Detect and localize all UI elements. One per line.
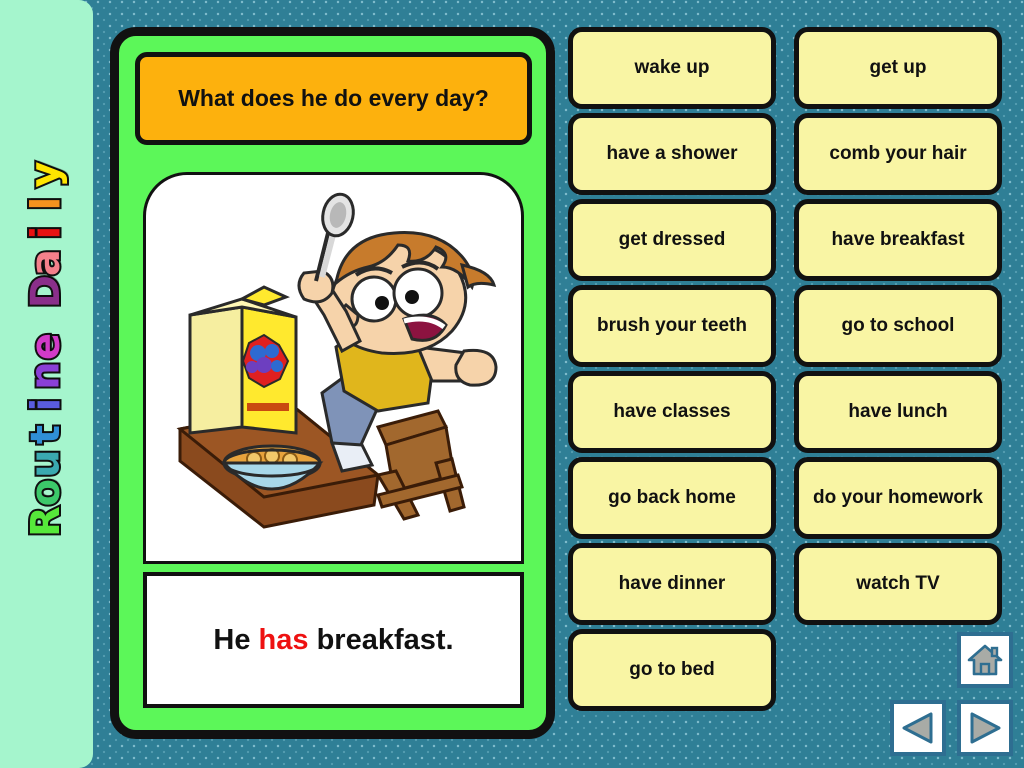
sentence-before: He — [213, 624, 258, 656]
title-letter: n — [31, 361, 62, 389]
answer-sentence-text: He has breakfast. — [213, 624, 453, 657]
activity-button-brush-your-teeth[interactable]: brush your teeth — [568, 285, 776, 367]
activity-button-go-back-home[interactable]: go back home — [568, 457, 776, 539]
question-box: What does he do every day? — [135, 52, 532, 145]
sentence-highlight: has — [259, 624, 309, 656]
title-letter: l — [31, 197, 62, 211]
title-letter: i — [31, 226, 62, 240]
main-card: What does he do every day? — [110, 27, 555, 739]
answer-sentence-box: He has breakfast. — [143, 572, 524, 708]
activity-button-grid: wake upget uphave a showercomb your hair… — [568, 27, 1002, 711]
activity-button-comb-your-hair[interactable]: comb your hair — [794, 113, 1002, 195]
question-text: What does he do every day? — [170, 85, 497, 112]
activity-button-have-classes[interactable]: have classes — [568, 371, 776, 453]
home-button[interactable] — [957, 632, 1013, 688]
activity-button-get-dressed[interactable]: get dressed — [568, 199, 776, 281]
arrow-right-icon — [967, 711, 1003, 745]
activity-button-wake-up[interactable]: wake up — [568, 27, 776, 109]
title-letter: i — [31, 398, 62, 412]
activity-button-have-breakfast[interactable]: have breakfast — [794, 199, 1002, 281]
title-letter: e — [31, 333, 62, 360]
title-letter: o — [31, 479, 62, 506]
page-title: DailyRoutine — [0, 160, 93, 536]
title-letter: a — [31, 249, 62, 276]
previous-button[interactable] — [890, 700, 946, 756]
title-letter: u — [31, 449, 62, 477]
home-icon — [967, 643, 1003, 677]
next-button[interactable] — [957, 700, 1013, 756]
title-word-routine: Routine — [31, 332, 62, 536]
arrow-left-icon — [900, 711, 936, 745]
title-letter: t — [31, 425, 62, 444]
activity-button-watch-TV[interactable]: watch TV — [794, 543, 1002, 625]
sentence-after: breakfast. — [309, 624, 454, 656]
activity-button-have-dinner[interactable]: have dinner — [568, 543, 776, 625]
picture-frame — [143, 172, 524, 564]
activity-button-go-to-bed[interactable]: go to bed — [568, 629, 776, 711]
boy-eating-breakfast-cartoon — [146, 175, 521, 561]
activity-button-do-your-homework[interactable]: do your homework — [794, 457, 1002, 539]
title-letter: R — [31, 506, 62, 537]
activity-button-have-a-shower[interactable]: have a shower — [568, 113, 776, 195]
activity-button-go-to-school[interactable]: go to school — [794, 285, 1002, 367]
title-word-daily: Daily — [30, 160, 63, 306]
slide-canvas: DailyRoutine What does he do every day? — [0, 0, 1024, 768]
activity-button-have-lunch[interactable]: have lunch — [794, 371, 1002, 453]
sidebar: DailyRoutine — [0, 0, 93, 768]
title-letter: y — [31, 162, 62, 188]
title-letter: D — [31, 275, 62, 308]
activity-button-get-up[interactable]: get up — [794, 27, 1002, 109]
